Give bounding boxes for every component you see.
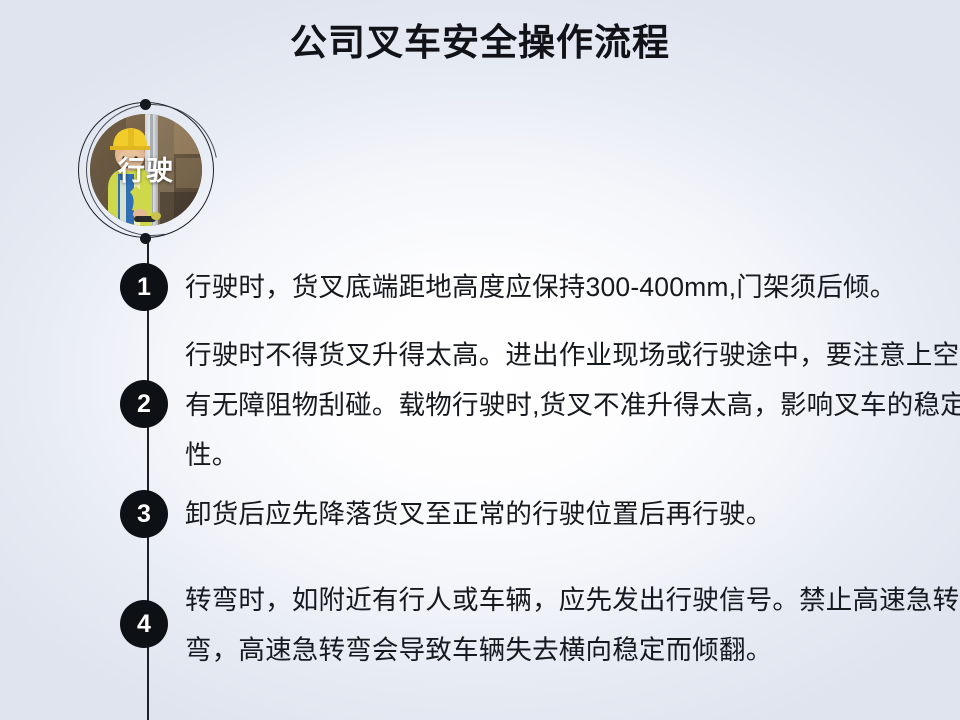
step-number-badge-3: 3	[120, 490, 168, 538]
connector-dot-bottom	[140, 233, 151, 244]
photo-badge: 行驶	[78, 102, 218, 242]
step-number-badge-2: 2	[120, 380, 168, 428]
forklift-operator-photo	[90, 114, 202, 226]
step-text-2: 行驶时不得货叉升得太高。进出作业现场或行驶途中，要注意上空将有无障阻物刮碰。载物…	[185, 330, 960, 480]
page-title: 公司叉车安全操作流程	[0, 22, 960, 65]
step-text-3: 卸货后应先降落货叉至正常的行驶位置后再行驶。	[185, 489, 960, 539]
step-number-badge-1: 1	[120, 263, 168, 311]
slide-canvas: 公司叉车安全操作流程	[0, 0, 960, 720]
step-text-1: 行驶时，货叉底端距地高度应保持300-400mm,门架须后倾。	[185, 262, 960, 312]
step-text-4: 转弯时，如附近有行人或车辆，应先发出行驶信号。禁止高速急转弯，高速急转弯会导致车…	[185, 575, 960, 675]
step-number-badge-4: 4	[120, 600, 168, 648]
connector-dot-top	[140, 99, 151, 110]
